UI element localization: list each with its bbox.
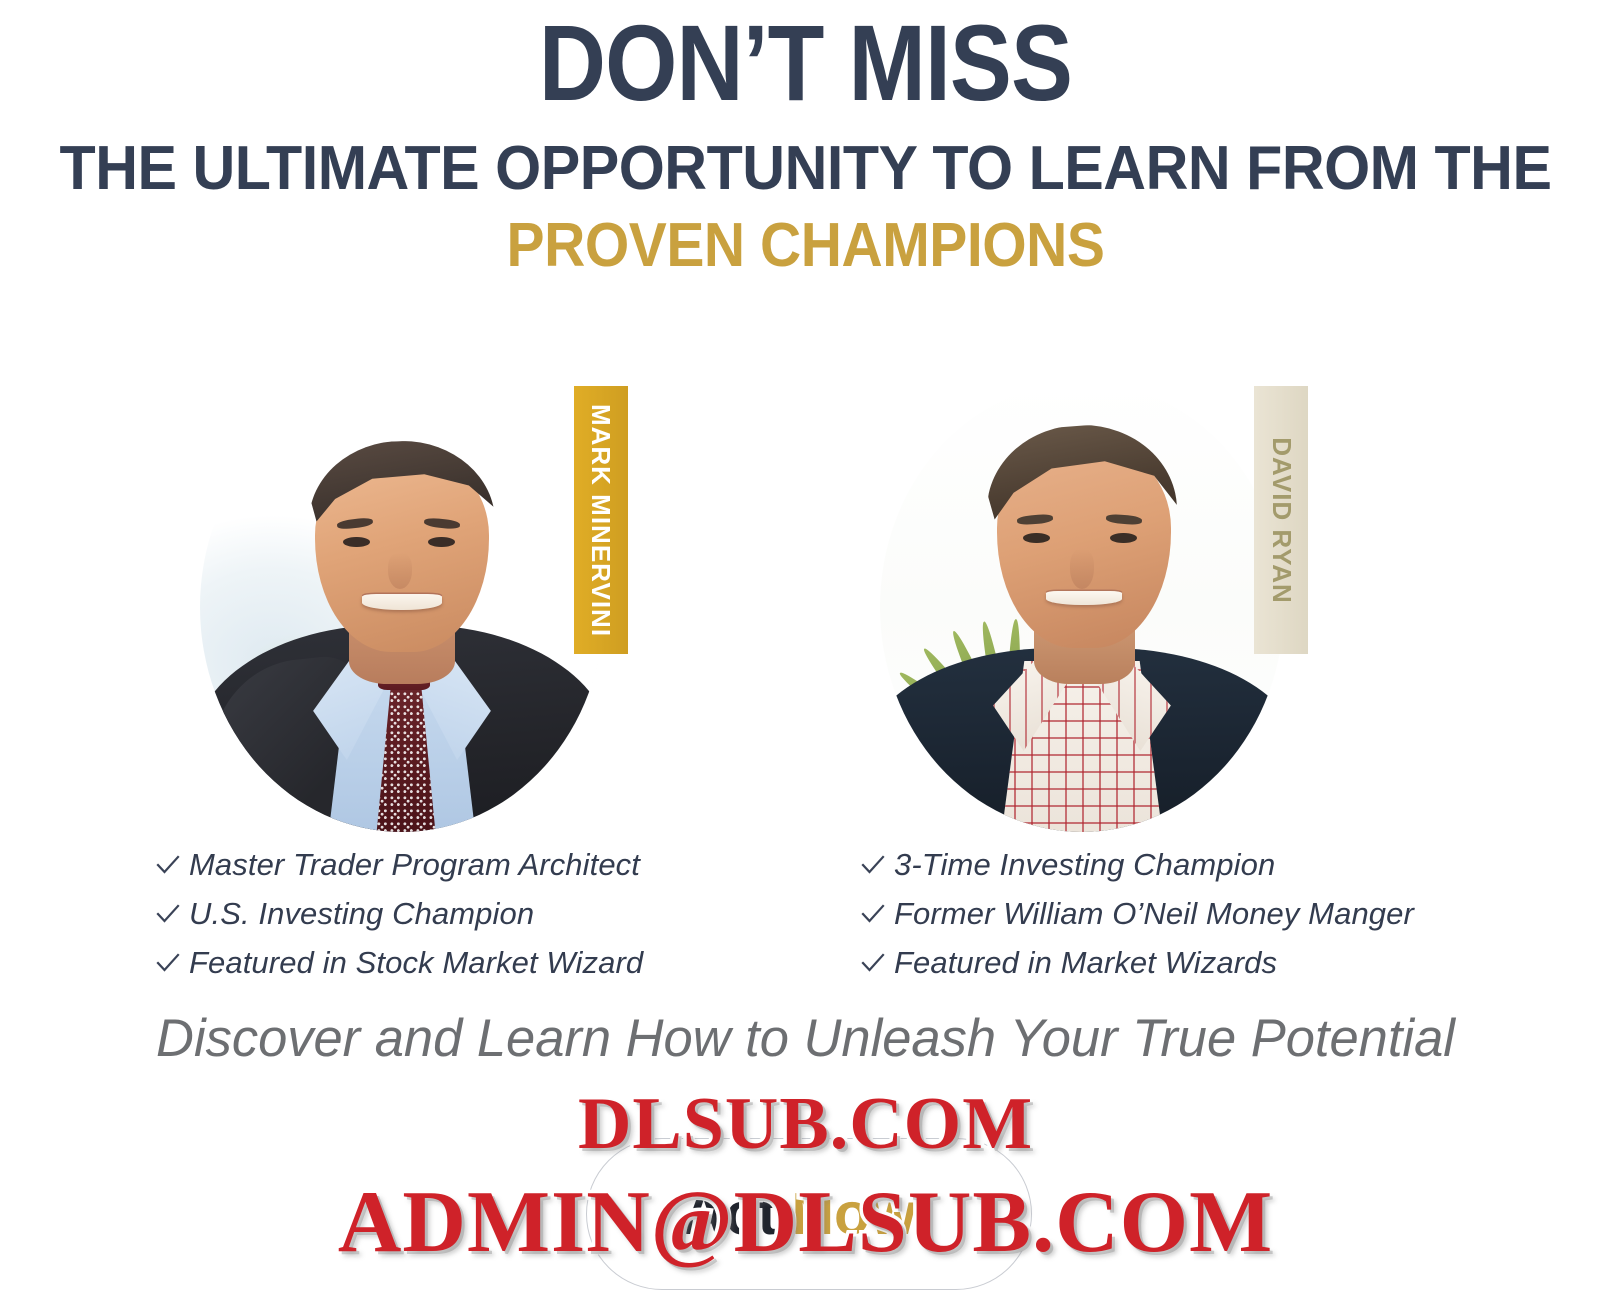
check-icon xyxy=(155,852,189,878)
tagline: Discover and Learn How to Unleash Your T… xyxy=(8,1008,1603,1069)
headline-line-3: PROVEN CHAMPIONS xyxy=(64,213,1546,278)
portrait-nose xyxy=(388,553,412,589)
list-item: Master Trader Program Architect xyxy=(155,844,855,886)
check-icon xyxy=(860,852,894,878)
credentials-list-mark-minervini: Master Trader Program Architect U.S. Inv… xyxy=(155,844,855,991)
speaker-card-david-ryan: DAVID RYAN xyxy=(838,368,1308,838)
headline-line-2: THE ULTIMATE OPPORTUNITY TO LEARN FROM T… xyxy=(36,136,1575,201)
list-item: U.S. Investing Champion xyxy=(155,893,855,935)
headline-block: DON’T MISS THE ULTIMATE OPPORTUNITY TO L… xyxy=(0,0,1611,278)
list-item: Former William O’Neil Money Manger xyxy=(860,893,1560,935)
credentials-list-david-ryan: 3-Time Investing Champion Former William… xyxy=(860,844,1560,991)
speaker-card-mark-minervini: MARK MINERVINI xyxy=(158,368,628,838)
list-item-label: U.S. Investing Champion xyxy=(189,896,534,932)
list-item: 3-Time Investing Champion xyxy=(860,844,1560,886)
watermark-email: ADMIN@DLSUB.COM xyxy=(0,1172,1611,1273)
portrait-mouth xyxy=(362,594,443,609)
speakers-section: MARK MINERVINI xyxy=(0,368,1611,838)
portrait-image-mark-minervini xyxy=(200,382,604,832)
list-item-label: Featured in Market Wizards xyxy=(894,945,1277,981)
list-item: Featured in Market Wizards xyxy=(860,942,1560,984)
check-icon xyxy=(155,901,189,927)
name-banner-david-ryan: DAVID RYAN xyxy=(1254,386,1308,654)
portrait-eye-left xyxy=(1023,533,1049,543)
watermark-site: DLSUB.COM xyxy=(0,1082,1611,1167)
list-item-label: Master Trader Program Architect xyxy=(189,847,640,883)
portrait-eye-right xyxy=(428,537,454,547)
name-banner-mark-minervini: MARK MINERVINI xyxy=(574,386,628,654)
portrait-eye-right xyxy=(1110,533,1136,543)
portrait-nose xyxy=(1070,549,1094,590)
portrait-david-ryan xyxy=(880,382,1284,832)
list-item-label: 3-Time Investing Champion xyxy=(894,847,1275,883)
portrait-image-david-ryan xyxy=(880,382,1284,832)
headline-line-1: DON’T MISS xyxy=(113,8,1498,118)
portrait-circle-mask xyxy=(880,382,1284,832)
check-icon xyxy=(155,950,189,976)
portrait-mark-minervini xyxy=(200,382,604,832)
list-item-label: Featured in Stock Market Wizard xyxy=(189,945,643,981)
portrait-eye-left xyxy=(343,537,369,547)
check-icon xyxy=(860,901,894,927)
check-icon xyxy=(860,950,894,976)
portrait-mouth xyxy=(1046,591,1123,605)
list-item: Featured in Stock Market Wizard xyxy=(155,942,855,984)
list-item-label: Former William O’Neil Money Manger xyxy=(894,896,1414,932)
portrait-circle-mask xyxy=(200,382,604,832)
name-banner-label: DAVID RYAN xyxy=(1266,437,1297,604)
name-banner-label: MARK MINERVINI xyxy=(586,403,617,636)
